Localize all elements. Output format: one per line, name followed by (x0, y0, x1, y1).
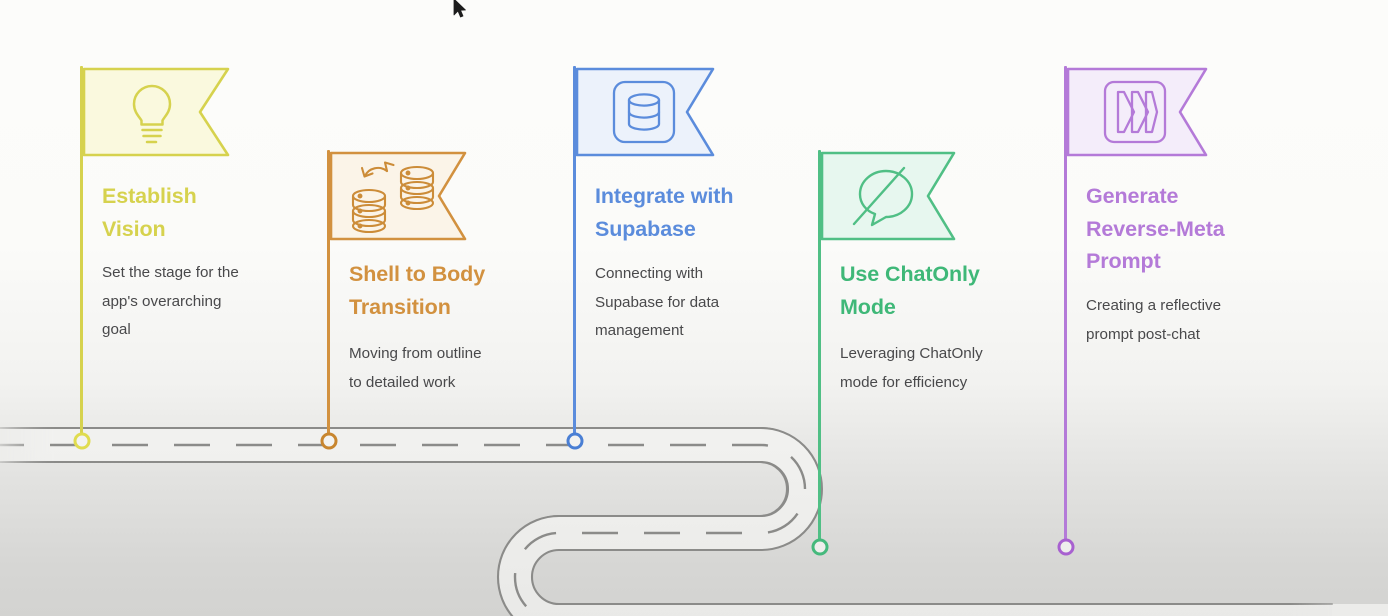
flag-banner (82, 66, 230, 158)
milestone-description: Moving from outline to detailed work (349, 340, 482, 397)
milestone-description: Leveraging ChatOnly mode for efficiency (840, 340, 983, 397)
road-edge-lines (0, 428, 1332, 616)
milestone-title: Establish Vision (102, 180, 197, 245)
road-surface (0, 445, 1388, 616)
road-edges (0, 428, 1330, 616)
mouse-pointer-icon (451, 0, 467, 21)
milestone-description: Connecting with Supabase for data manage… (595, 260, 719, 346)
milestone-title: Integrate with Supabase (595, 180, 733, 245)
road-geometry (0, 445, 1388, 616)
road-dash-line (0, 445, 1332, 616)
flag-banner (575, 66, 723, 158)
flag-banner (820, 150, 968, 242)
road-center-dashes (0, 445, 1330, 616)
milestone-description: Set the stage for the app's overarching … (102, 259, 239, 345)
roadmap-diagram: Establish Vision Set the stage for the a… (0, 0, 1388, 616)
flag-banner (1066, 66, 1214, 158)
milestone-description: Creating a reflective prompt post-chat (1086, 292, 1221, 349)
flag-banner (329, 150, 477, 242)
road-fill (0, 445, 1332, 616)
milestone-title: Generate Reverse-Meta Prompt (1086, 180, 1225, 278)
milestone-title: Use ChatOnly Mode (840, 258, 980, 323)
milestone-title: Shell to Body Transition (349, 258, 485, 323)
